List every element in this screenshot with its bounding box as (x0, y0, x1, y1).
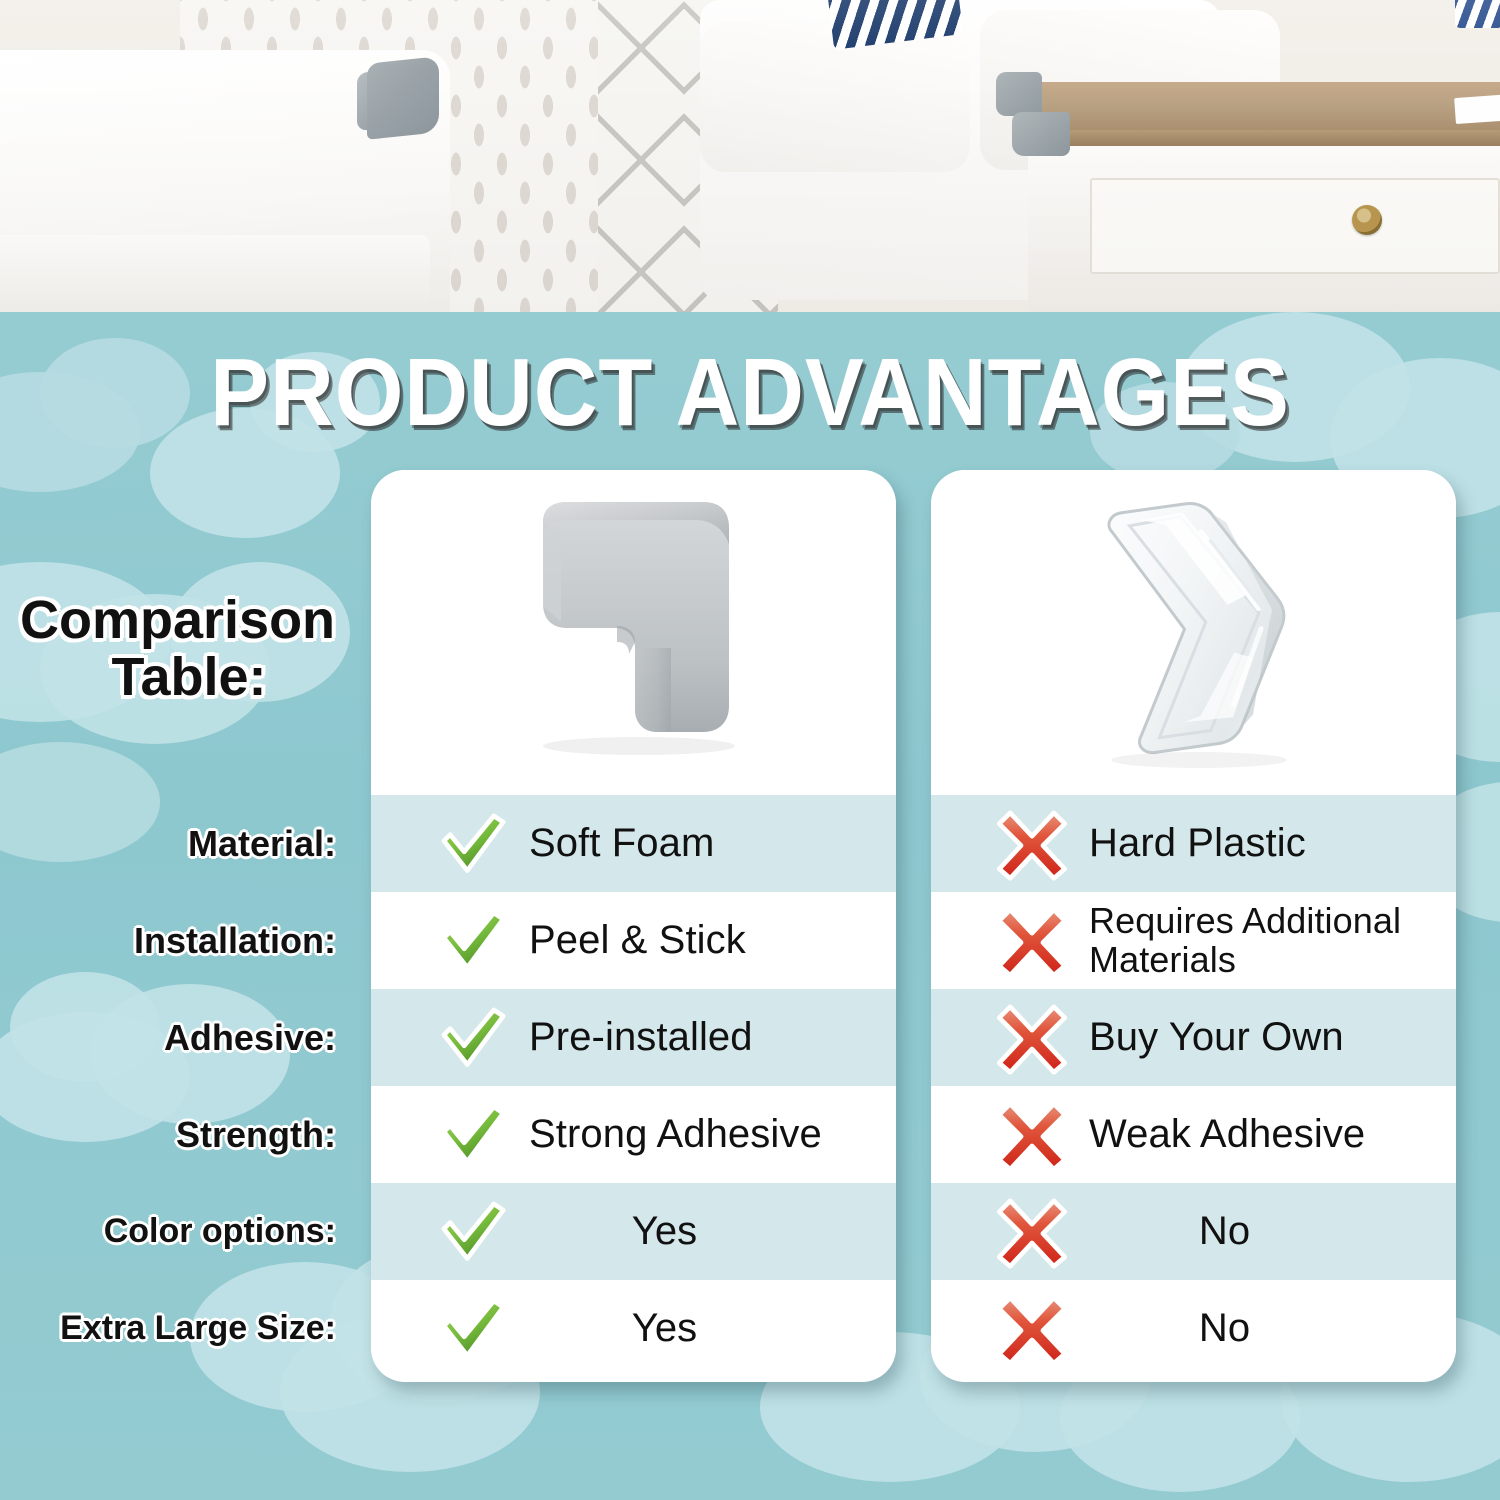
heading-line-2: Table: (14, 649, 364, 706)
comparison-table-heading: Comparison Table: (14, 592, 364, 706)
cell-value: Hard Plastic (1089, 822, 1306, 864)
row-label-adhesive: Adhesive: (0, 989, 352, 1086)
page-title: PRODUCT ADVANTAGES (60, 338, 1440, 448)
red-x-icon (993, 902, 1089, 980)
cell-value: Strong Adhesive (529, 1113, 822, 1155)
table-row: Pre-installed (371, 989, 896, 1086)
cell-value: Weak Adhesive (1089, 1113, 1365, 1155)
red-x-icon (993, 1290, 1089, 1368)
table-row: No (931, 1280, 1456, 1377)
green-check-icon (433, 1290, 529, 1368)
green-check-icon (433, 805, 529, 883)
foam-product-image (371, 470, 896, 795)
row-label-installation: Installation: (0, 892, 352, 989)
red-x-icon (993, 999, 1089, 1077)
plastic-rows: Hard Plastic Requires Additional Materia… (931, 795, 1456, 1377)
photo-vignette (0, 0, 1500, 312)
cell-value: Requires Additional Materials (1089, 902, 1456, 978)
clear-corner-guard-icon (931, 470, 1456, 795)
red-x-icon (993, 1096, 1089, 1174)
table-row: Strong Adhesive (371, 1086, 896, 1183)
cell-value: Yes (529, 1307, 896, 1349)
foam-rows: Soft Foam Peel & Stick Pre-installed (371, 795, 896, 1377)
green-check-icon (433, 1096, 529, 1174)
foam-corner-guard-icon (371, 470, 896, 795)
green-check-icon (433, 902, 529, 980)
table-row: Hard Plastic (931, 795, 1456, 892)
row-label-material: Material: (0, 795, 352, 892)
row-label-extra-large-size: Extra Large Size: (0, 1280, 352, 1377)
table-row: Yes (371, 1183, 896, 1280)
cell-value: Soft Foam (529, 822, 714, 864)
row-label-strength: Strength: (0, 1086, 352, 1183)
red-x-icon (993, 1193, 1089, 1271)
table-row: Requires Additional Materials (931, 892, 1456, 989)
cell-value: Peel & Stick (529, 919, 746, 961)
comparison-card-plastic: Hard Plastic Requires Additional Materia… (931, 470, 1456, 1382)
cell-value: Yes (529, 1210, 896, 1252)
table-row: Weak Adhesive (931, 1086, 1456, 1183)
table-row: No (931, 1183, 1456, 1280)
cell-value: Buy Your Own (1089, 1016, 1344, 1058)
comparison-card-foam: Soft Foam Peel & Stick Pre-installed (371, 470, 896, 1382)
table-row: Soft Foam (371, 795, 896, 892)
green-check-icon (433, 999, 529, 1077)
cell-value: No (1089, 1210, 1456, 1252)
table-row: Peel & Stick (371, 892, 896, 989)
hero-photo (0, 0, 1500, 312)
row-label-color-options: Color options: (0, 1183, 352, 1280)
plastic-product-image (931, 470, 1456, 795)
table-row: Yes (371, 1280, 896, 1377)
red-x-icon (993, 805, 1089, 883)
green-check-icon (433, 1193, 529, 1271)
row-label-column: Material: Installation: Adhesive: Streng… (0, 795, 352, 1377)
heading-line-1: Comparison (14, 592, 364, 649)
cell-value: No (1089, 1307, 1456, 1349)
cell-value: Pre-installed (529, 1016, 753, 1058)
table-row: Buy Your Own (931, 989, 1456, 1086)
